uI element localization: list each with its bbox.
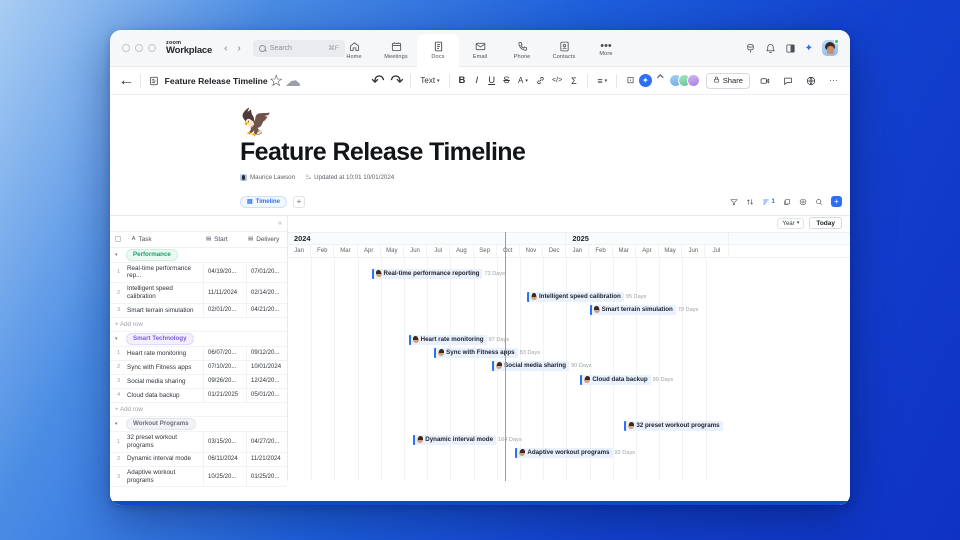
- tab-contacts-label: Contacts: [553, 54, 576, 60]
- toolbar-divider-2: [410, 74, 411, 88]
- view-tab-timeline[interactable]: ▤ Timeline: [240, 196, 287, 208]
- assignee-avatar: [496, 363, 502, 369]
- gantt-bar-body[interactable]: Cloud data backup: [580, 375, 650, 385]
- timescale-label: Year: [782, 220, 795, 227]
- cell-task[interactable]: Smart terrain simulation: [127, 304, 203, 317]
- formula-icon[interactable]: Σ: [566, 72, 583, 89]
- chevron-down-icon: ▾: [437, 78, 440, 84]
- code-icon[interactable]: </>: [549, 72, 566, 89]
- table-row[interactable]: 3Social media sharing09/26/20...12/24/20…: [110, 375, 287, 389]
- row-number[interactable]: 3: [110, 467, 127, 487]
- avatar[interactable]: [687, 74, 700, 87]
- row-number[interactable]: 2: [110, 361, 127, 374]
- document-body: 🦅 Feature Release Timeline Maurice Lawso…: [110, 95, 850, 505]
- cell-delivery-date[interactable]: 07/01/20...: [246, 263, 291, 283]
- cell-start-date[interactable]: 06/07/20...: [203, 347, 246, 360]
- zoom-workplace-logo: zoom Workplace: [166, 41, 212, 56]
- gantt-bar-duration: 164 Days: [498, 437, 522, 443]
- cell-task[interactable]: Real-time performance rep...: [127, 263, 203, 283]
- strikethrough-button[interactable]: S: [499, 75, 514, 86]
- gantt-bar-body[interactable]: 32 preset workout programs: [624, 421, 722, 431]
- tab-more[interactable]: ••• More: [585, 34, 627, 67]
- gantt-year-label: 2025: [566, 233, 728, 244]
- maximize-window-button[interactable]: [148, 44, 156, 52]
- sort-icon[interactable]: [746, 198, 754, 206]
- phone-icon: [517, 41, 528, 52]
- table-row[interactable]: 2Intelligent speed calibration11/11/2024…: [110, 283, 287, 304]
- gantt-month-label: Apr: [636, 245, 659, 257]
- gantt-bar-label: 32 preset workout programs: [636, 422, 719, 429]
- gantt-bar[interactable]: Cloud data backup99 Days: [580, 375, 673, 385]
- gantt-bar-body[interactable]: Dynamic interval mode: [413, 435, 496, 445]
- search-placeholder: Search: [270, 45, 325, 52]
- author-avatar: [240, 174, 247, 181]
- page-title: Feature Release Timeline: [240, 139, 850, 167]
- gantt-month-label: Jul: [427, 245, 450, 257]
- view-tab-label: Timeline: [256, 199, 280, 205]
- gantt-year-label: 2024: [288, 233, 566, 244]
- gantt-gridline: [381, 258, 382, 481]
- gantt-gridline: [474, 258, 475, 481]
- gantt-month-label: Jan: [566, 245, 589, 257]
- gantt-month-label: Jun: [404, 245, 427, 257]
- bold-button[interactable]: B: [455, 75, 470, 86]
- cell-delivery-date[interactable]: 11/21/2024: [246, 453, 291, 466]
- document-header-area: 🦅 Feature Release Timeline Maurice Lawso…: [110, 109, 850, 182]
- gantt-gridline: [358, 258, 359, 481]
- table-row[interactable]: 2Sync with Fitness apps07/10/20...10/01/…: [110, 361, 287, 375]
- cell-delivery-date[interactable]: 04/27/20...: [246, 432, 291, 452]
- doc-icon: [433, 41, 444, 52]
- assignee-avatar: [594, 307, 600, 313]
- main-navigation-tabs: Home Meetings Docs Email Phone Contacts: [333, 30, 627, 67]
- gantt-bar[interactable]: Real-time performance reporting73 Days: [372, 269, 505, 279]
- gantt-month-label: Jul: [705, 245, 728, 257]
- table-row[interactable]: 2Dynamic interval mode06/11/202411/21/20…: [110, 453, 287, 467]
- gantt-month-label: May: [659, 245, 682, 257]
- gantt-bar-body[interactable]: Smart terrain simulation: [590, 305, 676, 315]
- toolbar-divider-5: [616, 74, 617, 88]
- back-icon[interactable]: ←: [118, 72, 135, 89]
- text-column-icon: A: [132, 236, 136, 242]
- link-icon[interactable]: [532, 72, 549, 89]
- gantt-bar-duration: 95 Days: [626, 294, 647, 300]
- globe-icon[interactable]: [802, 72, 819, 89]
- tab-more-label: More: [599, 51, 612, 57]
- document-toolbar: ← Feature Release Timeline ☆ ☁ ↶ ↷ Text▾…: [110, 67, 850, 95]
- group-count-badge: 1: [771, 198, 775, 205]
- gantt-bar-label: Heart rate monitoring: [421, 336, 484, 343]
- cell-task[interactable]: Heart rate monitoring: [127, 347, 203, 360]
- document-updated: Updated at 10:01 10/01/2024: [305, 174, 394, 182]
- collapse-toolbar-icon[interactable]: ⌃: [652, 72, 669, 89]
- gantt-bar[interactable]: Social media sharing90 Days: [492, 361, 591, 371]
- search-icon-widget[interactable]: [815, 198, 823, 206]
- document-author: Maurice Lawson: [240, 174, 295, 181]
- cell-delivery-date[interactable]: 09/12/20...: [246, 347, 291, 360]
- gantt-gridline: [404, 258, 405, 481]
- cell-start-date[interactable]: 03/15/20...: [203, 432, 246, 452]
- gantt-bar-label: Intelligent speed calibration: [539, 293, 621, 300]
- gantt-bar-label: Dynamic interval mode: [425, 436, 493, 443]
- gantt-gridline: [311, 258, 312, 481]
- assignee-avatar: [531, 294, 537, 300]
- whiteboard-icon[interactable]: [745, 43, 756, 54]
- add-row-button[interactable]: + Add row: [110, 318, 287, 332]
- column-header-delivery-label: Delivery: [256, 236, 279, 243]
- font-color-label: A: [518, 76, 523, 85]
- gantt-bar-body[interactable]: Social media sharing: [492, 361, 569, 371]
- cell-start-date[interactable]: 06/11/2024: [203, 453, 246, 466]
- tab-meetings[interactable]: Meetings: [375, 34, 417, 67]
- insert-icon[interactable]: ⊡: [622, 72, 639, 89]
- ai-companion-button[interactable]: ✦: [639, 74, 652, 87]
- settings-gear-icon[interactable]: [799, 198, 807, 206]
- tab-home-label: Home: [346, 54, 361, 60]
- chevron-down-icon[interactable]: ▾: [115, 252, 122, 258]
- tab-home[interactable]: Home: [333, 34, 375, 67]
- gantt-bar-label: Real-time performance reporting: [384, 270, 480, 277]
- gantt-bar-label: Adaptive workout programs: [527, 449, 609, 456]
- filter-icon[interactable]: [730, 198, 738, 206]
- gantt-chart-pane: Year ▾ Today 20242025 JanFebMarAprMayJun…: [288, 216, 850, 481]
- cell-start-date[interactable]: 11/11/2024: [203, 283, 246, 303]
- tab-docs-label: Docs: [431, 54, 444, 60]
- home-icon: [349, 41, 360, 52]
- mail-icon: [475, 41, 486, 52]
- gantt-month-header: JanFebMarAprMayJunJulAugSepOctNovDecJanF…: [288, 245, 850, 258]
- gantt-bar-body[interactable]: Adaptive workout programs: [515, 448, 612, 458]
- tab-email-label: Email: [473, 54, 488, 60]
- assignee-avatar: [413, 337, 419, 343]
- star-icon[interactable]: ☆: [268, 72, 285, 89]
- add-row-button[interactable]: + Add row: [110, 403, 287, 417]
- document-title[interactable]: Feature Release Timeline: [165, 76, 268, 86]
- gantt-bar-body[interactable]: Real-time performance reporting: [372, 269, 483, 279]
- gantt-month-label: Feb: [589, 245, 612, 257]
- undo-icon[interactable]: ↶: [369, 72, 386, 89]
- cell-task[interactable]: Sync with Fitness apps: [127, 361, 203, 374]
- gantt-bar-duration: 97 Days: [489, 337, 510, 343]
- close-window-button[interactable]: [122, 44, 130, 52]
- window-controls[interactable]: [118, 44, 156, 52]
- gantt-gridline: [682, 258, 683, 481]
- chevron-down-icon-2: ▾: [525, 78, 528, 84]
- gantt-bar-duration: 83 Days: [520, 350, 541, 356]
- align-dropdown[interactable]: ≡▾: [593, 76, 611, 86]
- cell-task[interactable]: 32 preset workout programs: [127, 432, 203, 452]
- widget-tools: 1 +: [730, 196, 850, 207]
- gantt-month-label: Dec: [543, 245, 566, 257]
- tab-contacts[interactable]: Contacts: [543, 34, 585, 67]
- gantt-year-header: 20242025: [288, 232, 850, 245]
- duplicate-icon[interactable]: [783, 198, 791, 206]
- author-name: Maurice Lawson: [250, 174, 295, 181]
- share-label: Share: [723, 76, 743, 85]
- brand-workplace: Workplace: [166, 46, 212, 56]
- table-group-header[interactable]: ▾Workout Programs: [110, 417, 287, 432]
- font-color-button[interactable]: A▾: [514, 76, 532, 85]
- cell-task[interactable]: Cloud data backup: [127, 389, 203, 402]
- assignee-avatar: [417, 437, 423, 443]
- column-header-start-label: Start: [214, 236, 228, 243]
- ai-sparkle-icon[interactable]: ✦: [805, 43, 813, 54]
- task-table-pane: « A Task ▤ Start ▤: [110, 216, 288, 481]
- table-row[interactable]: 1Real-time performance rep...04/19/20...…: [110, 263, 287, 284]
- gantt-month-label: May: [381, 245, 404, 257]
- group-name-chip: Workout Programs: [126, 418, 196, 430]
- gantt-gridline: [659, 258, 660, 481]
- add-view-button[interactable]: +: [293, 196, 305, 208]
- gantt-month-label: Aug: [450, 245, 473, 257]
- cell-start-date[interactable]: 07/10/20...: [203, 361, 246, 374]
- tab-phone[interactable]: Phone: [501, 34, 543, 67]
- assignee-avatar: [438, 350, 444, 356]
- gantt-bar-body[interactable]: Heart rate monitoring: [409, 335, 487, 345]
- user-avatar[interactable]: [822, 40, 838, 56]
- gantt-controls: Year ▾ Today: [288, 216, 850, 232]
- gantt-bar-duration: 90 Days: [571, 363, 592, 369]
- gantt-bar-body[interactable]: Intelligent speed calibration: [527, 292, 624, 302]
- italic-button[interactable]: I: [469, 75, 484, 86]
- collapse-pane-row: «: [110, 216, 287, 232]
- gantt-month-label: Apr: [358, 245, 381, 257]
- cell-start-date[interactable]: 10/25/20...: [203, 467, 246, 487]
- assignee-avatar: [376, 271, 382, 277]
- widget-view-bar: ▤ Timeline + 1 +: [110, 194, 850, 210]
- gantt-bar-label: Cloud data backup: [592, 376, 647, 383]
- gantt-month-label: Sep: [474, 245, 497, 257]
- table-row[interactable]: 132 preset workout programs03/15/20...04…: [110, 432, 287, 453]
- chevron-down-icon-3: ▾: [605, 78, 608, 84]
- today-button[interactable]: Today: [809, 217, 842, 229]
- document-metadata: Maurice Lawson Updated at 10:01 10/01/20…: [240, 174, 850, 182]
- gantt-bar[interactable]: Smart terrain simulation79 Days: [590, 305, 699, 315]
- toolbar-divider: [140, 74, 141, 88]
- gantt-gridline: [427, 258, 428, 481]
- titlebar-actions: ✦: [745, 40, 842, 56]
- calendar-icon: [391, 41, 402, 52]
- gantt-gridline: [706, 258, 707, 481]
- search-icon: [259, 45, 266, 52]
- gantt-month-label: Jun: [682, 245, 705, 257]
- gantt-gridline: [450, 258, 451, 481]
- gantt-bar-duration: 79 Days: [678, 307, 699, 313]
- timeline-view-icon: ▤: [247, 198, 253, 205]
- group-name-chip: Performance: [126, 249, 178, 261]
- cell-task[interactable]: Dynamic interval mode: [127, 453, 203, 466]
- toolbar-right-actions: Share ⋯: [669, 72, 842, 89]
- history-navigation: ‹ ›: [224, 43, 241, 54]
- gantt-bar-duration: 99 Days: [653, 377, 674, 383]
- cell-task[interactable]: Social media sharing: [127, 375, 203, 388]
- gantt-bar[interactable]: Intelligent speed calibration95 Days: [527, 292, 646, 302]
- ellipsis-icon: •••: [600, 43, 612, 49]
- gantt-month-label: Mar: [613, 245, 636, 257]
- assignee-avatar: [628, 423, 634, 429]
- gantt-bar[interactable]: Adaptive workout programs92 Days: [515, 448, 635, 458]
- contacts-icon: [559, 41, 570, 52]
- cell-delivery-date[interactable]: 12/24/20...: [246, 375, 291, 388]
- date-column-icon-2: ▤: [248, 236, 253, 242]
- gantt-bar[interactable]: Heart rate monitoring97 Days: [409, 335, 509, 345]
- cell-delivery-date[interactable]: 04/21/20...: [246, 304, 291, 317]
- gantt-month-label: Nov: [520, 245, 543, 257]
- today-marker-line: [505, 232, 506, 481]
- back-arrow-icon[interactable]: ‹: [224, 43, 227, 54]
- tab-docs[interactable]: Docs: [417, 34, 459, 67]
- history-icon: [305, 174, 311, 182]
- collaborator-avatars[interactable]: [669, 74, 700, 87]
- row-number[interactable]: 2: [110, 453, 127, 466]
- gantt-bar-duration: 73 Days: [484, 271, 505, 277]
- table-row[interactable]: 4Cloud data backup01/21/202505/01/20...: [110, 389, 287, 403]
- collapse-pane-icon[interactable]: «: [278, 220, 282, 227]
- cell-delivery-date[interactable]: 01/25/20...: [246, 467, 291, 487]
- column-header-task-label: Task: [138, 236, 151, 243]
- document-emoji-icon[interactable]: 🦅: [240, 109, 850, 135]
- row-number[interactable]: 4: [110, 389, 127, 402]
- column-header-start[interactable]: ▤ Start: [201, 236, 243, 243]
- cell-task[interactable]: Adaptive workout programs: [127, 467, 203, 487]
- minimize-window-button[interactable]: [135, 44, 143, 52]
- online-status-dot: [834, 39, 839, 44]
- forward-arrow-icon[interactable]: ›: [237, 43, 240, 54]
- more-options-icon[interactable]: ⋯: [825, 72, 842, 89]
- row-number[interactable]: 1: [110, 432, 127, 452]
- cell-start-date[interactable]: 09/26/20...: [203, 375, 246, 388]
- app-title-bar: zoom Workplace ‹ › Search ⌘F Home Meetin…: [110, 30, 850, 67]
- gantt-bar-duration: 92 Days: [615, 450, 636, 456]
- gantt-bar-label: Social media sharing: [504, 362, 566, 369]
- cell-delivery-date[interactable]: 02/14/20...: [246, 283, 291, 303]
- column-header-delivery[interactable]: ▤ Delivery: [243, 236, 287, 243]
- row-number[interactable]: 1: [110, 263, 127, 283]
- doc-thumbnail-icon[interactable]: [146, 72, 163, 89]
- gantt-month-label: Mar: [334, 245, 357, 257]
- cell-start-date[interactable]: 01/21/2025: [203, 389, 246, 402]
- group-name-chip: Smart Technology: [126, 333, 194, 345]
- updated-timestamp: Updated at 10:01 10/01/2024: [314, 174, 394, 181]
- align-icon: ≡: [597, 76, 602, 86]
- gantt-bar-label: Smart terrain simulation: [602, 306, 673, 313]
- checkbox-icon: [115, 236, 121, 242]
- table-row[interactable]: 1Heart rate monitoring06/07/20...09/12/2…: [110, 347, 287, 361]
- chevron-down-icon-4: ▾: [797, 220, 800, 226]
- row-number[interactable]: 2: [110, 283, 127, 303]
- layout-panel-icon[interactable]: [785, 43, 796, 54]
- chevron-down-icon[interactable]: ▾: [115, 421, 122, 427]
- row-number[interactable]: 3: [110, 304, 127, 317]
- share-button[interactable]: Share: [706, 73, 750, 89]
- date-column-icon: ▤: [206, 236, 211, 242]
- add-record-button[interactable]: +: [831, 196, 842, 207]
- timeline-grid: « A Task ▤ Start ▤: [110, 215, 850, 481]
- table-row[interactable]: 3Adaptive workout programs10/25/20...01/…: [110, 467, 287, 488]
- select-all-checkbox[interactable]: [110, 236, 127, 242]
- redo-icon[interactable]: ↷: [388, 72, 405, 89]
- zoom-workplace-window: zoom Workplace ‹ › Search ⌘F Home Meetin…: [110, 30, 850, 505]
- tab-meetings-label: Meetings: [384, 54, 408, 60]
- gantt-bars-canvas: Real-time performance reporting73 DaysIn…: [288, 258, 850, 481]
- cell-delivery-date[interactable]: 10/01/2024: [246, 361, 291, 374]
- timeline-widget: ▤ Timeline + 1 +: [110, 194, 850, 481]
- table-group-header[interactable]: ▾Performance: [110, 248, 287, 263]
- gantt-month-label: Feb: [311, 245, 334, 257]
- cloud-sync-icon: ☁: [285, 72, 302, 89]
- tab-phone-label: Phone: [514, 54, 531, 60]
- column-header-task[interactable]: A Task: [127, 236, 201, 243]
- chevron-down-icon[interactable]: ▾: [115, 336, 122, 342]
- window-bottom-accent: [110, 501, 850, 505]
- row-number[interactable]: 3: [110, 375, 127, 388]
- timescale-dropdown[interactable]: Year ▾: [777, 218, 804, 229]
- video-icon[interactable]: [756, 72, 773, 89]
- toolbar-divider-3: [449, 74, 450, 88]
- cell-start-date[interactable]: 02/01/20...: [203, 304, 246, 317]
- gantt-gridline: [334, 258, 335, 481]
- notifications-bell-icon[interactable]: [765, 43, 776, 54]
- table-group-header[interactable]: ▾Smart Technology: [110, 332, 287, 347]
- assignee-avatar: [519, 450, 525, 456]
- assignee-avatar: [584, 377, 590, 383]
- underline-button[interactable]: U: [484, 75, 499, 86]
- cell-start-date[interactable]: 04/19/20...: [203, 263, 246, 283]
- table-row[interactable]: 3Smart terrain simulation02/01/20...04/2…: [110, 304, 287, 318]
- table-groups-container: ▾Performance1Real-time performance rep..…: [110, 248, 287, 488]
- text-style-label: Text: [420, 76, 435, 85]
- table-header-row: A Task ▤ Start ▤ Delivery: [110, 232, 287, 248]
- gantt-month-label: Jan: [288, 245, 311, 257]
- tab-email[interactable]: Email: [459, 34, 501, 67]
- cell-task[interactable]: Intelligent speed calibration: [127, 283, 203, 303]
- comment-icon[interactable]: [779, 72, 796, 89]
- toolbar-divider-4: [587, 74, 588, 88]
- group-icon[interactable]: 1: [762, 198, 775, 206]
- gantt-month-label: Oct: [497, 245, 520, 257]
- gantt-bar[interactable]: 32 preset workout programs: [624, 421, 722, 431]
- lock-icon: [713, 76, 720, 85]
- global-search-input[interactable]: Search ⌘F: [253, 40, 345, 57]
- gantt-bar[interactable]: Sync with Fitness apps83 Days: [434, 348, 540, 358]
- cell-delivery-date[interactable]: 05/01/20...: [246, 389, 291, 402]
- text-style-dropdown[interactable]: Text▾: [416, 76, 443, 85]
- row-number[interactable]: 1: [110, 347, 127, 360]
